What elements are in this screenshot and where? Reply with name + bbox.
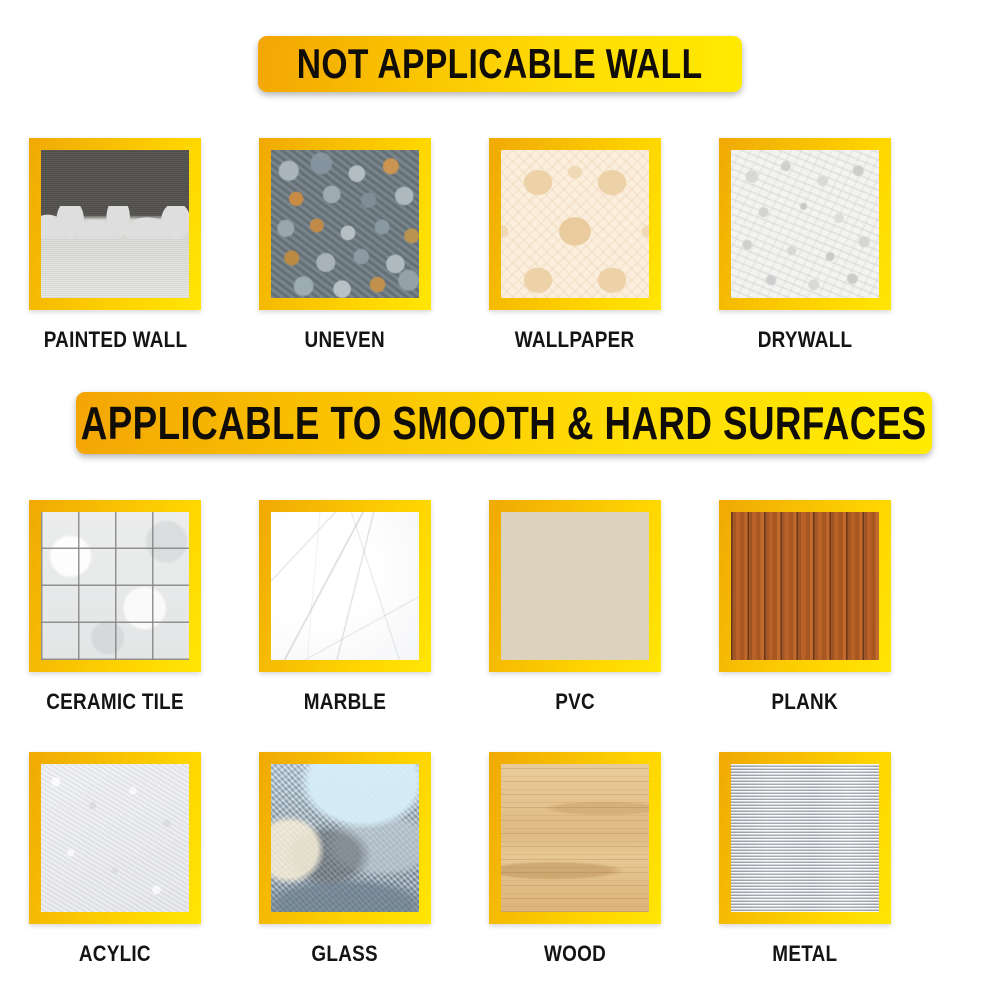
swatch-uneven — [271, 150, 419, 298]
tile-row-applicable-2: ACYLIC GLASS WOOD METAL — [0, 752, 1000, 967]
banner-not-applicable-text: NOT APPLICABLE WALL — [297, 43, 703, 85]
tile-wood: WOOD — [460, 752, 690, 967]
tile-marble: MARBLE — [230, 500, 460, 715]
tile-frame — [259, 752, 431, 924]
tile-label: WOOD — [544, 941, 606, 967]
tile-pvc: PVC — [460, 500, 690, 715]
tile-label: ACYLIC — [79, 941, 151, 967]
tile-label: PLANK — [772, 689, 838, 715]
swatch-wood — [501, 764, 649, 912]
banner-not-applicable: NOT APPLICABLE WALL — [258, 36, 742, 92]
tile-label: GLASS — [312, 941, 378, 967]
tile-label: MARBLE — [304, 689, 386, 715]
swatch-marble — [271, 512, 419, 660]
banner-applicable-text: APPLICABLE TO SMOOTH & HARD SURFACES — [81, 400, 927, 446]
tile-frame — [29, 500, 201, 672]
tile-label: WALLPAPER — [515, 327, 635, 353]
tile-drywall: DRYWALL — [690, 138, 920, 353]
tile-wallpaper: WALLPAPER — [460, 138, 690, 353]
tile-frame — [29, 752, 201, 924]
swatch-glass — [271, 764, 419, 912]
swatch-plank — [731, 512, 879, 660]
tile-frame — [719, 138, 891, 310]
swatch-pvc — [501, 512, 649, 660]
tile-row-applicable-1: CERAMIC TILE MARBLE PVC PLANK — [0, 500, 1000, 715]
swatch-painted-wall — [41, 150, 189, 298]
tile-frame — [719, 500, 891, 672]
tile-label: DRYWALL — [758, 327, 853, 353]
tile-frame — [719, 752, 891, 924]
tile-plank: PLANK — [690, 500, 920, 715]
tile-frame — [489, 500, 661, 672]
tile-acrylic: ACYLIC — [0, 752, 230, 967]
banner-applicable: APPLICABLE TO SMOOTH & HARD SURFACES — [76, 392, 932, 454]
swatch-wallpaper — [501, 150, 649, 298]
tile-label: UNEVEN — [305, 327, 385, 353]
tile-uneven: UNEVEN — [230, 138, 460, 353]
tile-painted-wall: PAINTED WALL — [0, 138, 230, 353]
tile-frame — [259, 138, 431, 310]
tile-ceramic-tile: CERAMIC TILE — [0, 500, 230, 715]
tile-frame — [489, 138, 661, 310]
swatch-metal — [731, 764, 879, 912]
swatch-ceramic-tile — [41, 512, 189, 660]
tile-label: METAL — [772, 941, 837, 967]
tile-row-not-applicable: PAINTED WALL UNEVEN WALLPAPER DRYWALL — [0, 138, 1000, 353]
tile-metal: METAL — [690, 752, 920, 967]
tile-frame — [259, 500, 431, 672]
tile-label: PAINTED WALL — [43, 327, 187, 353]
swatch-acrylic — [41, 764, 189, 912]
tile-glass: GLASS — [230, 752, 460, 967]
tile-label: CERAMIC TILE — [46, 689, 184, 715]
tile-frame — [489, 752, 661, 924]
swatch-drywall — [731, 150, 879, 298]
tile-frame — [29, 138, 201, 310]
tile-label: PVC — [555, 689, 595, 715]
